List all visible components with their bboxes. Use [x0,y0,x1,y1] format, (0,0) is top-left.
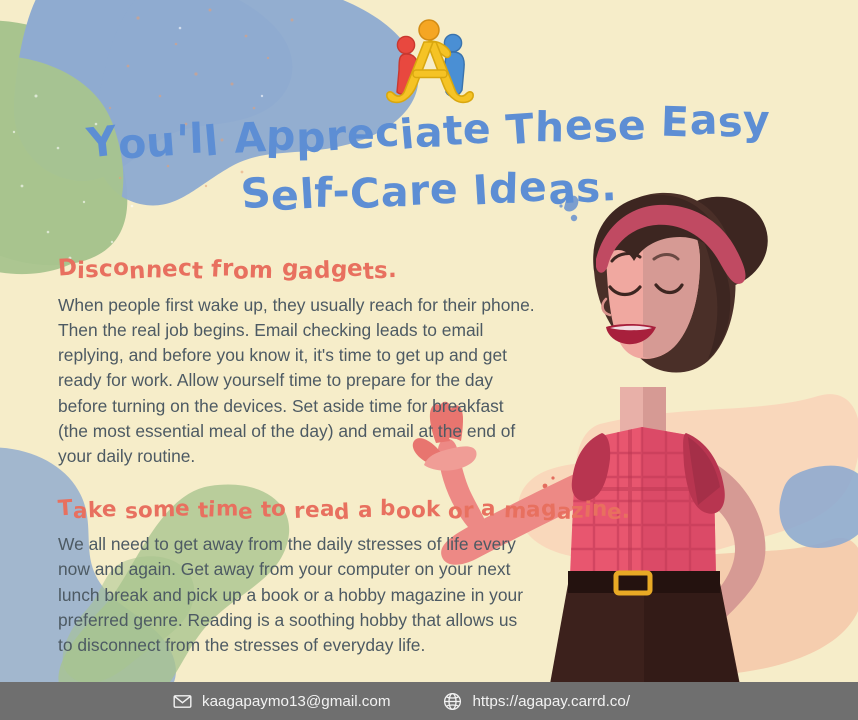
section-body-disconnect: When people first wake up, they usually … [58,293,536,468]
head [593,187,776,372]
footer-email-text: kaagapaymo13@gmail.com [202,693,390,710]
footer-bar: kaagapaymo13@gmail.com https://agapay.ca… [0,682,858,720]
agapay-logo [383,12,478,104]
poster-title: You'll Appreciate These Easy Self-Care I… [0,112,858,212]
section-body-read: We all need to get away from the daily s… [58,532,536,657]
footer-email[interactable]: kaagapaymo13@gmail.com [172,691,390,712]
section-heading-disconnect: Disconnect from gadgets. [58,258,536,283]
footer-website-text: https://agapay.carrd.co/ [472,693,630,710]
footer-website[interactable]: https://agapay.carrd.co/ [442,691,630,712]
section-heading-read: Take some time to read a book or a magaz… [58,499,536,523]
poster-canvas: You'll Appreciate These Easy Self-Care I… [0,0,858,720]
globe-icon [442,691,463,712]
envelope-icon [172,691,193,712]
content-column: Disconnect from gadgets. When people fir… [58,258,536,658]
